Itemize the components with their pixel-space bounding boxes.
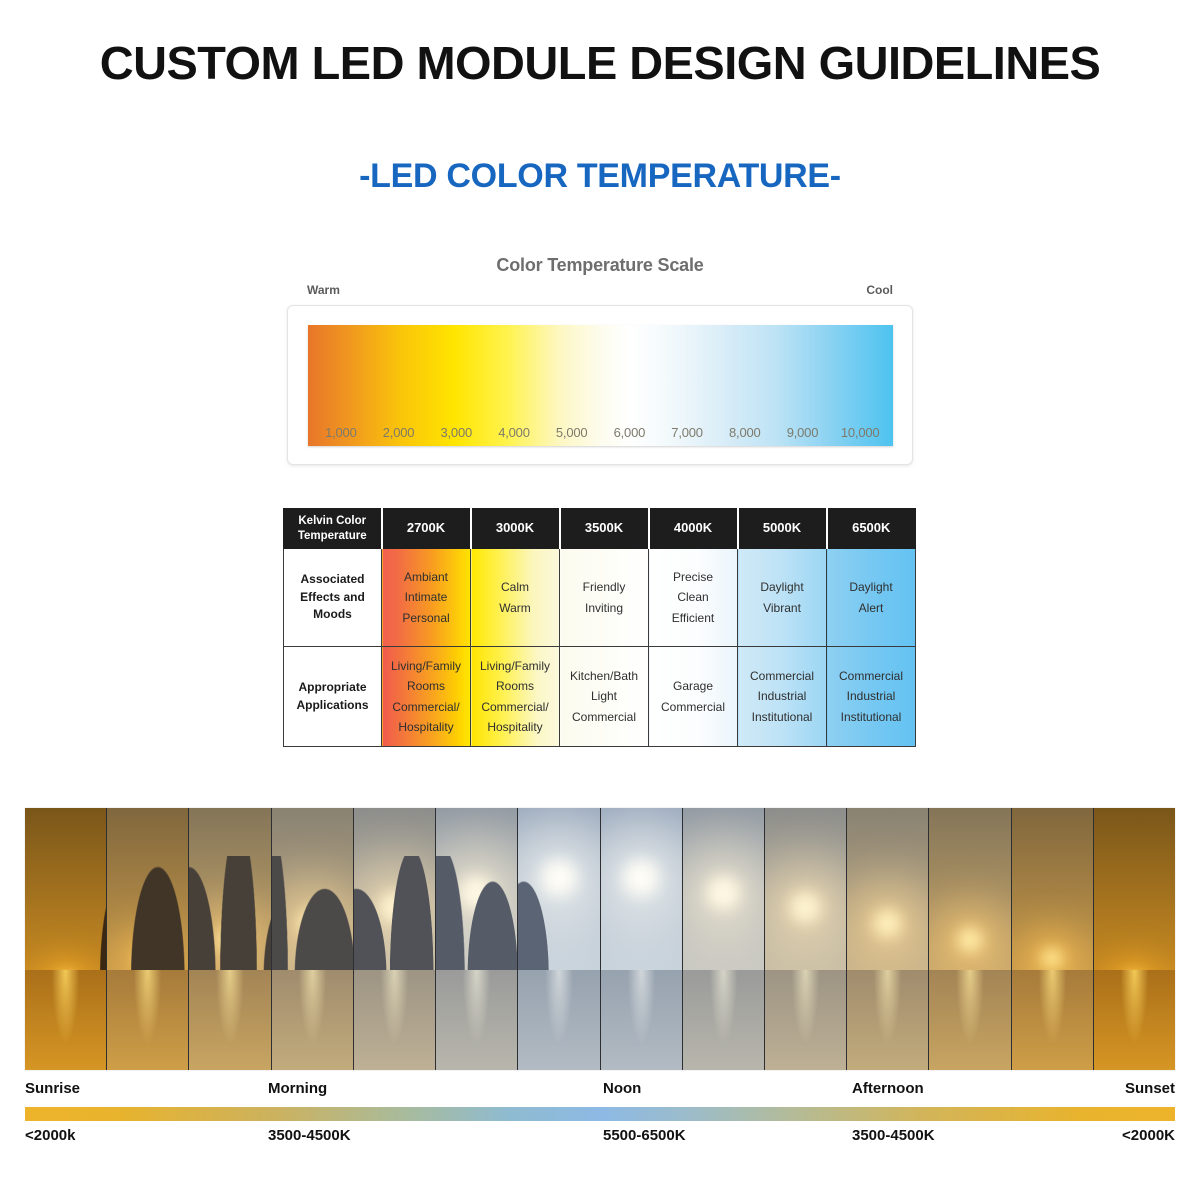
- cell-apps-5000k: Commercial Industrial Institutional: [738, 647, 827, 747]
- cell-line: Calm: [474, 577, 556, 597]
- scale-heading: Color Temperature Scale: [287, 255, 913, 281]
- kelvin-tick: 3,000: [427, 425, 485, 440]
- legend-kelvin-noon: 5500-6500K: [603, 1127, 686, 1144]
- daylight-panel: [436, 808, 518, 1070]
- cell-line: Commercial: [652, 697, 734, 717]
- daylight-panel: [518, 808, 600, 1070]
- column-header-3000k: 3000K: [471, 509, 560, 549]
- cell-line: Commercial/: [385, 697, 467, 717]
- daylight-panel: [683, 808, 765, 1070]
- legend-kelvin-afternoon: 3500-4500K: [852, 1127, 935, 1144]
- column-header-4000k: 4000K: [649, 509, 738, 549]
- cell-line: Living/Family: [474, 656, 556, 676]
- kelvin-tick: 5,000: [543, 425, 601, 440]
- mountain-ridge: [354, 856, 436, 976]
- cell-line: Friendly: [563, 577, 645, 597]
- daylight-panel: [601, 808, 683, 1070]
- sun-icon: [702, 870, 746, 916]
- table-header-row: Kelvin Color Temperature 2700K 3000K 350…: [284, 509, 916, 549]
- cell-effects-5000k: Daylight Vibrant: [738, 549, 827, 647]
- sun-icon: [785, 887, 826, 928]
- daylight-panel: [847, 808, 929, 1070]
- color-temperature-scale-section: Color Temperature Scale Warm Cool 1,000 …: [287, 255, 913, 465]
- water-reflection: [518, 970, 599, 1070]
- daylight-panel: [1012, 808, 1094, 1070]
- cell-line: Alert: [830, 598, 912, 618]
- page-subtitle: -LED COLOR TEMPERATURE-: [0, 157, 1200, 196]
- legend-time-labels: Sunrise Morning Noon Afternoon Sunset: [25, 1080, 1175, 1102]
- daylight-panel: [107, 808, 189, 1070]
- mountain-ridge: [189, 856, 271, 976]
- legend-label-afternoon: Afternoon: [852, 1080, 924, 1097]
- cell-apps-2700k: Living/Family Rooms Commercial/ Hospital…: [382, 647, 471, 747]
- legend-label-morning: Morning: [268, 1080, 327, 1097]
- cell-line: Hospitality: [385, 717, 467, 737]
- page-title: CUSTOM LED MODULE DESIGN GUIDELINES: [0, 36, 1200, 90]
- kelvin-tick: 9,000: [774, 425, 832, 440]
- kelvin-tick: 1,000: [312, 425, 370, 440]
- cell-line: Garage: [652, 676, 734, 696]
- daylight-photo-strip: [25, 808, 1175, 1070]
- table-corner-header: Kelvin Color Temperature: [284, 509, 382, 549]
- water-reflection: [189, 970, 270, 1070]
- cell-line: Rooms: [474, 676, 556, 696]
- mountain-ridge: [93, 856, 107, 976]
- legend-kelvin-morning: 3500-4500K: [268, 1127, 351, 1144]
- cell-line: Industrial: [741, 686, 823, 706]
- cell-effects-4000k: Precise Clean Efficient: [649, 549, 738, 647]
- kelvin-tick: 2,000: [370, 425, 428, 440]
- column-header-3500k: 3500K: [560, 509, 649, 549]
- legend-gradient-bar: [25, 1107, 1175, 1121]
- cell-line: Light: [563, 686, 645, 706]
- cell-apps-3500k: Kitchen/Bath Light Commercial: [560, 647, 649, 747]
- legend-kelvin-sunrise: <2000k: [25, 1127, 75, 1144]
- legend-label-sunset: Sunset: [1125, 1080, 1175, 1097]
- sun-icon: [869, 905, 906, 942]
- daylight-panel: [189, 808, 271, 1070]
- cell-line: Vibrant: [741, 598, 823, 618]
- daylight-panel: [272, 808, 354, 1070]
- column-header-6500k: 6500K: [827, 509, 916, 549]
- mountain-ridge: [124, 856, 189, 976]
- water-reflection: [272, 970, 353, 1070]
- kelvin-tick: 8,000: [716, 425, 774, 440]
- column-header-2700k: 2700K: [382, 509, 471, 549]
- legend-label-noon: Noon: [603, 1080, 641, 1097]
- scale-card: 1,000 2,000 3,000 4,000 5,000 6,000 7,00…: [287, 305, 913, 465]
- daylight-legend: Sunrise Morning Noon Afternoon Sunset <2…: [25, 1080, 1175, 1149]
- cell-line: Hospitality: [474, 717, 556, 737]
- warm-label: Warm: [307, 283, 340, 297]
- cell-effects-2700k: Ambiant Intimate Personal: [382, 549, 471, 647]
- mountain-ridge: [436, 856, 518, 976]
- cell-line: Kitchen/Bath: [563, 666, 645, 686]
- daylight-panel: [1094, 808, 1175, 1070]
- cell-effects-6500k: Daylight Alert: [827, 549, 916, 647]
- daylight-panel: [354, 808, 436, 1070]
- water-reflection: [847, 970, 928, 1070]
- cell-line: Commercial: [741, 666, 823, 686]
- cell-line: Efficient: [652, 608, 734, 628]
- row-header-appropriate-applications: Appropriate Applications: [284, 647, 382, 747]
- cell-line: Institutional: [830, 707, 912, 727]
- cell-line: Personal: [385, 608, 467, 628]
- scale-endpoint-labels: Warm Cool: [287, 283, 913, 303]
- kelvin-tick: 4,000: [485, 425, 543, 440]
- cell-line: Institutional: [741, 707, 823, 727]
- cell-line: Precise: [652, 567, 734, 587]
- water-reflection: [107, 970, 188, 1070]
- cool-label: Cool: [866, 283, 893, 297]
- cell-line: Commercial: [830, 666, 912, 686]
- cell-effects-3000k: Calm Warm: [471, 549, 560, 647]
- water-reflection: [683, 970, 764, 1070]
- water-reflection: [436, 970, 517, 1070]
- cell-line: Inviting: [563, 598, 645, 618]
- cell-line: Intimate: [385, 587, 467, 607]
- kelvin-gradient-bar: 1,000 2,000 3,000 4,000 5,000 6,000 7,00…: [308, 325, 893, 446]
- kelvin-tick: 10,000: [831, 425, 889, 440]
- cell-line: Commercial: [563, 707, 645, 727]
- mountain-ridge: [272, 856, 354, 976]
- kelvin-color-temperature-table: Kelvin Color Temperature 2700K 3000K 350…: [283, 508, 916, 747]
- water-reflection: [25, 970, 106, 1070]
- legend-label-sunrise: Sunrise: [25, 1080, 80, 1097]
- cell-line: Daylight: [830, 577, 912, 597]
- water-reflection: [929, 970, 1010, 1070]
- water-reflection: [601, 970, 682, 1070]
- table-row: Appropriate Applications Living/Family R…: [284, 647, 916, 747]
- water-reflection: [765, 970, 846, 1070]
- cell-line: Living/Family: [385, 656, 467, 676]
- cell-line: Industrial: [830, 686, 912, 706]
- cell-line: Warm: [474, 598, 556, 618]
- cell-apps-3000k: Living/Family Rooms Commercial/ Hospital…: [471, 647, 560, 747]
- kelvin-tick-row: 1,000 2,000 3,000 4,000 5,000 6,000 7,00…: [308, 425, 893, 440]
- table-row: Associated Effects and Moods Ambiant Int…: [284, 549, 916, 647]
- row-header-effects-moods: Associated Effects and Moods: [284, 549, 382, 647]
- cell-line: Daylight: [741, 577, 823, 597]
- kelvin-tick: 6,000: [601, 425, 659, 440]
- mountain-ridge: [518, 856, 556, 976]
- daylight-panel: [25, 808, 107, 1070]
- column-header-5000k: 5000K: [738, 509, 827, 549]
- daylight-panel: [765, 808, 847, 1070]
- kelvin-tick: 7,000: [658, 425, 716, 440]
- cell-line: Rooms: [385, 676, 467, 696]
- legend-kelvin-values: <2000k 3500-4500K 5500-6500K 3500-4500K …: [25, 1127, 1175, 1149]
- water-reflection: [1094, 970, 1175, 1070]
- cell-apps-6500k: Commercial Industrial Institutional: [827, 647, 916, 747]
- cell-apps-4000k: Garage Commercial: [649, 647, 738, 747]
- cell-line: Ambiant: [385, 567, 467, 587]
- legend-kelvin-sunset: <2000K: [1122, 1127, 1175, 1144]
- cell-line: Commercial/: [474, 697, 556, 717]
- water-reflection: [354, 970, 435, 1070]
- cell-effects-3500k: Friendly Inviting: [560, 549, 649, 647]
- water-reflection: [1012, 970, 1093, 1070]
- cell-line: Clean: [652, 587, 734, 607]
- daylight-panel: [929, 808, 1011, 1070]
